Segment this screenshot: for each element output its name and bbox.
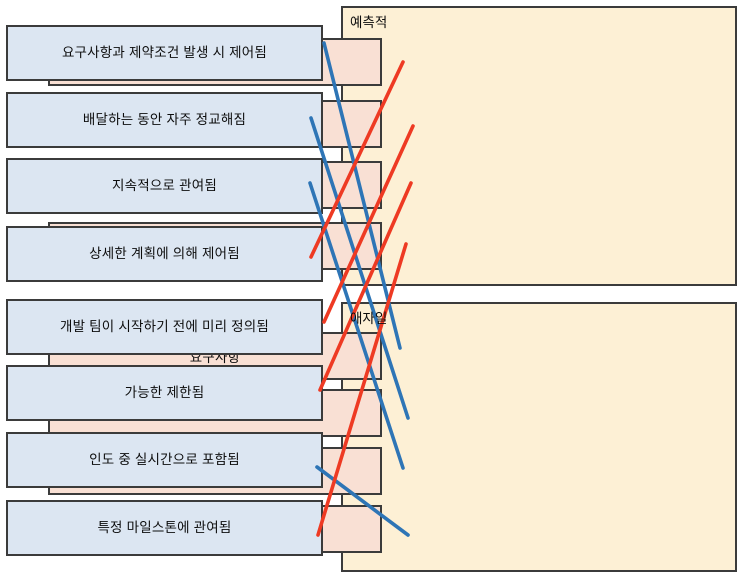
characteristic-label: 배달하는 동안 자주 정교해짐	[83, 112, 246, 128]
panel-predictive-title: 예측적	[350, 11, 387, 31]
panel-agile-title: 애자일	[350, 307, 387, 327]
characteristic-box-4[interactable]: 상세한 계획에 의해 제어됨	[6, 226, 323, 282]
characteristic-label: 특정 마일스톤에 관여됨	[97, 520, 231, 536]
characteristic-label: 인도 중 실시간으로 포함됨	[89, 452, 240, 468]
characteristic-box-5[interactable]: 개발 팀이 시작하기 전에 미리 정의됨	[6, 299, 323, 355]
characteristic-box-7[interactable]: 인도 중 실시간으로 포함됨	[6, 432, 323, 488]
panel-predictive[interactable]	[341, 6, 737, 286]
characteristic-label: 상세한 계획에 의해 제어됨	[89, 246, 240, 262]
characteristic-box-6[interactable]: 가능한 제한됨	[6, 365, 323, 421]
characteristic-box-2[interactable]: 배달하는 동안 자주 정교해짐	[6, 92, 323, 148]
characteristic-label: 지속적으로 관여됨	[112, 178, 217, 194]
characteristic-box-1[interactable]: 요구사항과 제약조건 발생 시 제어됨	[6, 25, 323, 81]
characteristic-box-3[interactable]: 지속적으로 관여됨	[6, 158, 323, 214]
diagram-canvas: 예측적 애자일 요구사항 변경 위험과 비용 주요 이해관계자 요구사항 변경 …	[0, 0, 743, 578]
characteristic-box-8[interactable]: 특정 마일스톤에 관여됨	[6, 500, 323, 556]
characteristic-label: 개발 팀이 시작하기 전에 미리 정의됨	[60, 319, 269, 335]
characteristic-label: 가능한 제한됨	[125, 385, 205, 401]
characteristic-label: 요구사항과 제약조건 발생 시 제어됨	[62, 45, 267, 61]
panel-agile[interactable]	[341, 302, 737, 572]
